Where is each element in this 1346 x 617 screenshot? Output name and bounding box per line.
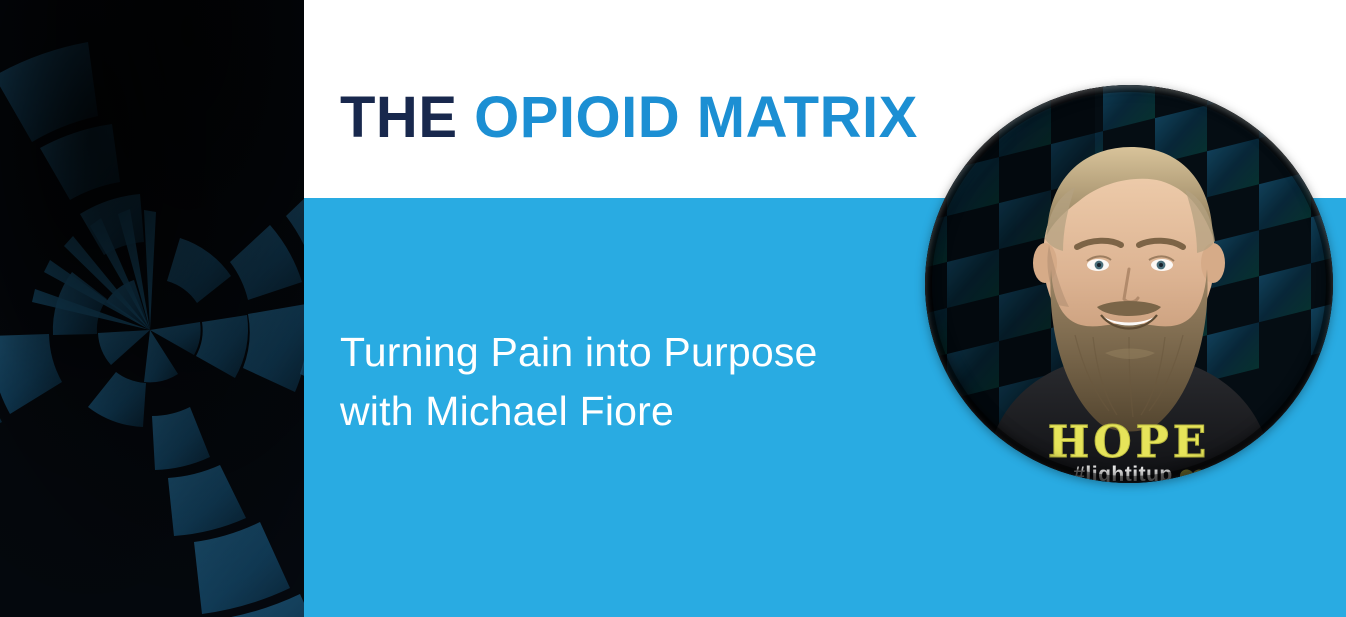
show-title-accent: OPIOID MATRIX <box>474 85 918 150</box>
left-decorative-panel <box>0 0 304 617</box>
podcast-episode-banner: THE OPIOID MATRIX Turning Pain into Purp… <box>0 0 1346 617</box>
episode-subtitle-line-2: with Michael Fiore <box>340 382 940 441</box>
episode-subtitle: Turning Pain into Purpose with Michael F… <box>340 323 940 442</box>
show-title: THE OPIOID MATRIX <box>340 88 918 149</box>
episode-subtitle-line-1: Turning Pain into Purpose <box>340 323 940 382</box>
show-title-prefix: THE <box>340 85 474 150</box>
guest-portrait-image: HOPE #lightitup <box>925 85 1333 483</box>
shirt-print-hope: HOPE <box>1048 417 1211 468</box>
checkerboard-pattern-graphic <box>0 0 304 617</box>
guest-portrait: HOPE #lightitup <box>925 85 1333 483</box>
